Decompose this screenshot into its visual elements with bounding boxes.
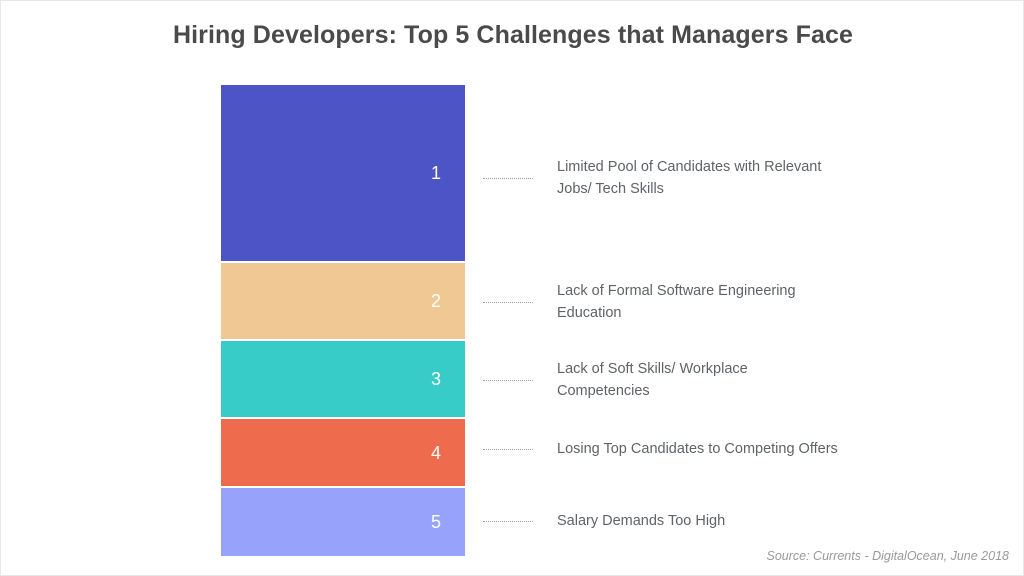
leader-dots-icon-1 — [483, 177, 533, 179]
callout-label-3-line2: Competencies — [557, 383, 650, 399]
callout-label-2: Lack of Formal Software Engineering Educ… — [557, 280, 796, 325]
callout-label-1-line2: Jobs/ Tech Skills — [557, 181, 664, 197]
callout-row-1: Limited Pool of Candidates with Relevant… — [483, 156, 1023, 201]
source-attribution: Source: Currents - DigitalOcean, June 20… — [767, 549, 1010, 563]
callout-label-4: Losing Top Candidates to Competing Offer… — [557, 438, 838, 460]
leader-dots-icon-4 — [483, 448, 533, 450]
callout-row-4: Losing Top Candidates to Competing Offer… — [483, 438, 1023, 460]
callout-label-3-line1: Lack of Soft Skills/ Workplace — [557, 361, 748, 377]
bar-rank-label-2: 2 — [431, 292, 441, 310]
callout-row-5: Salary Demands Too High — [483, 510, 1023, 532]
chart-title: Hiring Developers: Top 5 Challenges that… — [1, 21, 1024, 50]
bar-rank-label-4: 4 — [431, 444, 441, 462]
callout-label-5: Salary Demands Too High — [557, 510, 725, 532]
bar-rank-label-5: 5 — [431, 513, 441, 531]
callout-row-2: Lack of Formal Software Engineering Educ… — [483, 280, 1023, 325]
callout-label-1-line1: Limited Pool of Candidates with Relevant — [557, 159, 821, 175]
leader-dots-icon-2 — [483, 301, 533, 303]
stacked-bar-column: 1 2 3 4 5 — [221, 85, 465, 558]
callout-row-3: Lack of Soft Skills/ Workplace Competenc… — [483, 358, 1023, 403]
callout-label-2-line2: Education — [557, 305, 622, 321]
bar-rank-label-3: 3 — [431, 370, 441, 388]
bar-segment-5[interactable]: 5 — [221, 488, 465, 556]
bar-segment-2[interactable]: 2 — [221, 263, 465, 339]
bar-segment-3[interactable]: 3 — [221, 341, 465, 417]
callout-label-3: Lack of Soft Skills/ Workplace Competenc… — [557, 358, 748, 403]
bar-segment-1[interactable]: 1 — [221, 85, 465, 261]
callout-label-1: Limited Pool of Candidates with Relevant… — [557, 156, 821, 201]
slide-canvas: Hiring Developers: Top 5 Challenges that… — [0, 0, 1024, 576]
bar-rank-label-1: 1 — [431, 164, 441, 182]
leader-dots-icon-3 — [483, 379, 533, 381]
callout-label-2-line1: Lack of Formal Software Engineering — [557, 283, 796, 299]
leader-dots-icon-5 — [483, 520, 533, 522]
bar-segment-4[interactable]: 4 — [221, 419, 465, 486]
